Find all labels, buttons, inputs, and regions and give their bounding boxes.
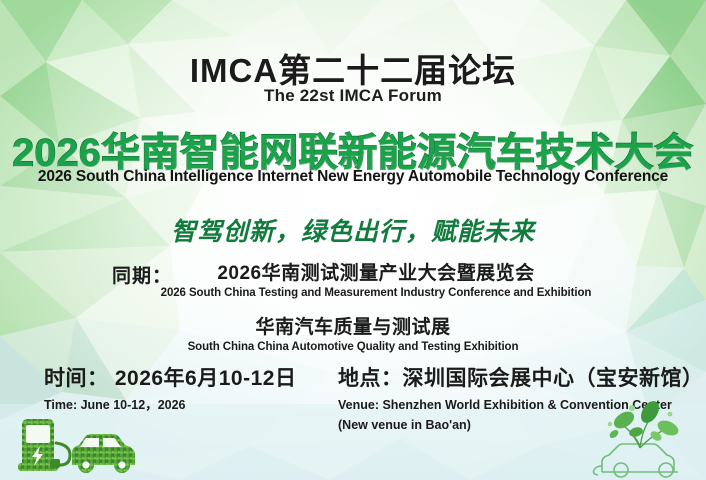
concurrent-event-2-en: South China China Automotive Quality and… [0, 341, 706, 353]
time-cn: 时间： 2026年6月10-12日 [44, 362, 296, 392]
forum-title-en: The 22st IMCA Forum [0, 86, 706, 106]
concurrent-event-row-2: 华南汽车质量与测试展 South China China Automotive … [0, 312, 706, 356]
ev-charging-station-icon [12, 415, 142, 475]
concurrent-event-2-cn: 华南汽车质量与测试展 [0, 312, 706, 339]
concurrent-events-section: 同期： 2026华南测试测量产业大会暨展览会 2026 South China … [0, 258, 706, 356]
time-block: 时间： 2026年6月10-12日 Time: June 10-12，2026 [44, 362, 296, 414]
forum-title-cn: IMCA第二十二届论坛 [0, 44, 706, 92]
concurrent-event-row-1: 同期： 2026华南测试测量产业大会暨展览会 2026 South China … [0, 258, 706, 302]
concurrent-event-1-cn: 2026华南测试测量产业大会暨展览会 [0, 258, 706, 285]
concurrent-event-1-en: 2026 South China Testing and Measurement… [0, 287, 706, 299]
slogan-text: 智驾创新，绿色出行，赋能未来 [0, 212, 706, 248]
main-title-en: 2026 South China Intelligence Internet N… [0, 168, 706, 186]
eco-car-leaves-icon [580, 398, 700, 480]
concurrent-label: 同期： [112, 261, 172, 288]
time-en: Time: June 10-12，2026 [44, 396, 296, 414]
conference-poster: IMCA第二十二届论坛 The 22st IMCA Forum 2026华南智能… [0, 0, 706, 480]
venue-cn: 地点：深圳国际会展中心（宝安新馆） [338, 362, 704, 392]
